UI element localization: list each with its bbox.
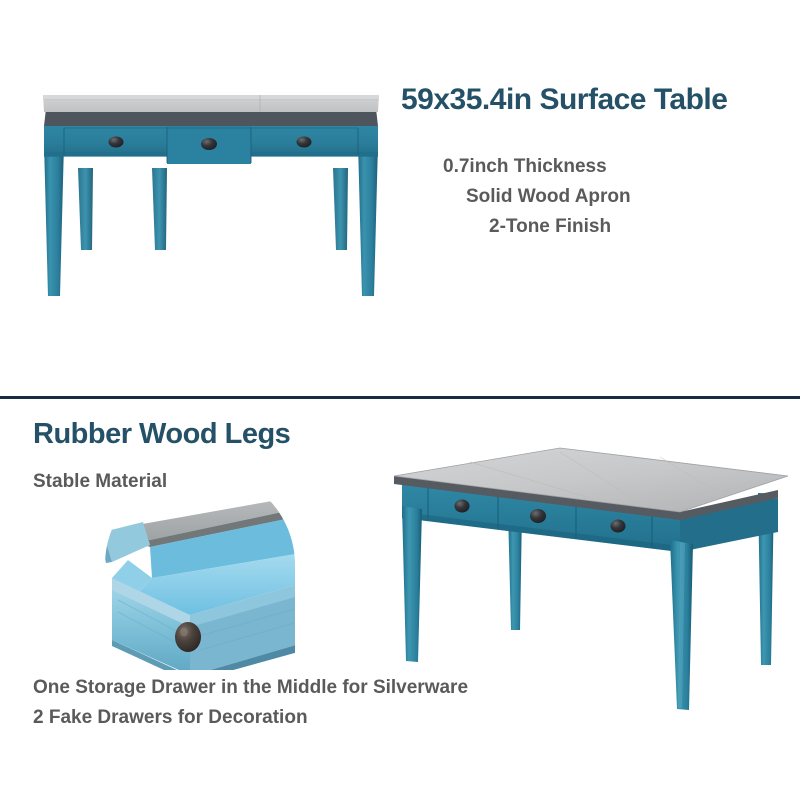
closeup-drawer-knob xyxy=(175,622,201,652)
caption-storage-drawer: One Storage Drawer in the Middle for Sil… xyxy=(33,677,468,699)
spec-apron: Solid Wood Apron xyxy=(466,186,631,208)
knob-left-p xyxy=(455,500,470,513)
table-front-legs xyxy=(44,143,378,296)
leg-front-right xyxy=(670,540,693,710)
caption-fake-drawers: 2 Fake Drawers for Decoration xyxy=(33,707,308,729)
front-view-dining-table-figure xyxy=(0,0,800,400)
spec-thickness: 0.7inch Thickness xyxy=(443,156,607,178)
knob-right xyxy=(297,137,312,148)
spec-finish: 2-Tone Finish xyxy=(489,216,611,238)
page-title-surface-table: 59x35.4in Surface Table xyxy=(401,83,727,117)
knob-center-p xyxy=(530,509,546,523)
knob-left xyxy=(109,137,124,148)
leg-front-left xyxy=(402,506,422,662)
product-infographic: 59x35.4in Surface Table 0.7inch Thicknes… xyxy=(0,0,800,800)
knob-center xyxy=(201,138,217,150)
table-back-legs xyxy=(78,168,348,250)
drawer-closeup-clip xyxy=(100,490,320,682)
knob-right-p xyxy=(611,520,626,533)
open-drawer-closeup-figure xyxy=(0,400,400,700)
